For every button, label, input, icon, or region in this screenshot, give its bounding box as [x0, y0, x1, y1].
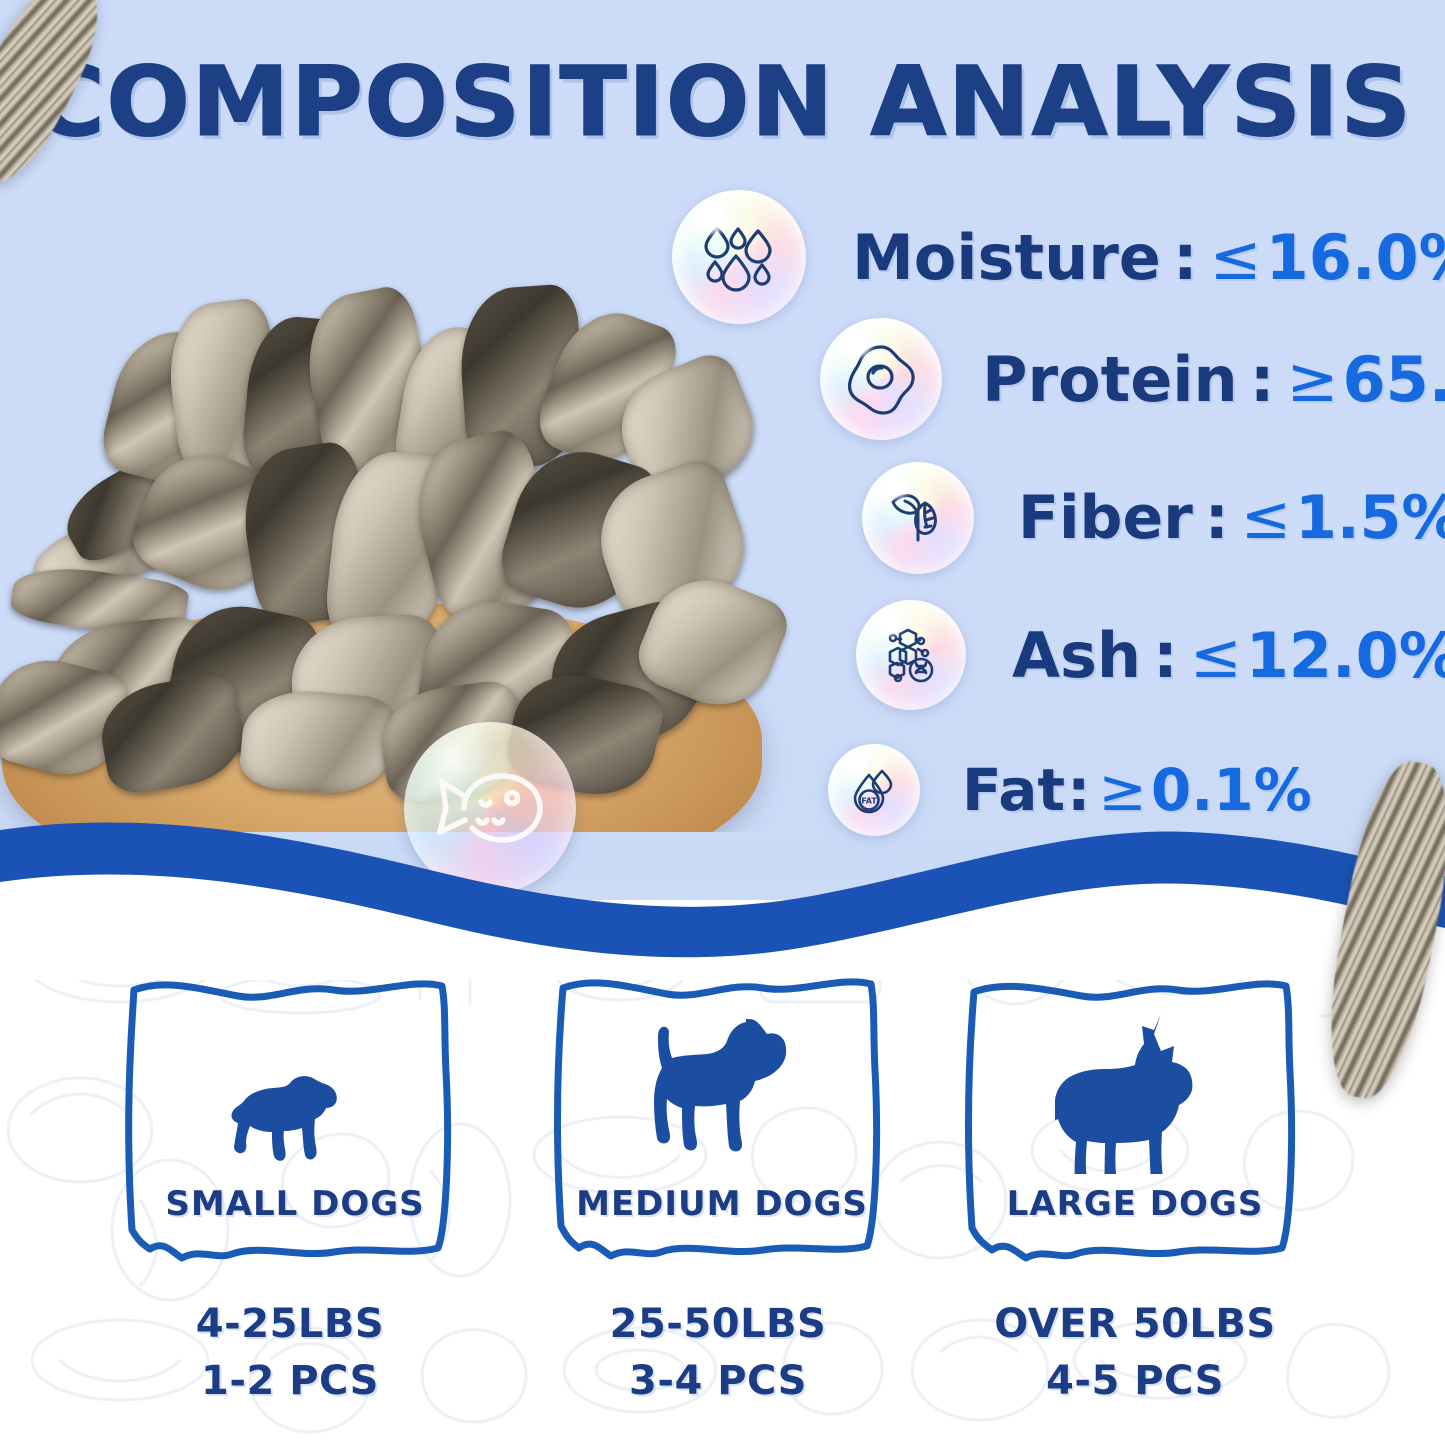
row-value: 16.0% [1266, 221, 1445, 294]
spec-weight: 4-25LBS [110, 1296, 470, 1353]
feeding-specs: 4-25LBS 1-2 PCS 25-50LBS 3-4 PCS OVER 50… [0, 1296, 1445, 1426]
spec-weight: 25-50LBS [538, 1296, 898, 1353]
leaf-icon [862, 462, 974, 574]
small-dog-icon [230, 1072, 360, 1168]
feeding-card-medium[interactable]: MEDIUM DOGS [547, 968, 897, 1268]
row-separator: : [1193, 483, 1241, 553]
row-label: Ash [1012, 619, 1141, 692]
row-separator: : [1238, 343, 1287, 416]
feeding-spec-large: OVER 50LBS 4-5 PCS [955, 1296, 1315, 1410]
row-separator: : [1141, 619, 1190, 692]
feeding-card-small[interactable]: SMALL DOGS [120, 968, 470, 1268]
large-dog-icon [1055, 1010, 1215, 1174]
card-title: LARGE DOGS [960, 1184, 1310, 1224]
row-comparator: ≤ [1190, 619, 1246, 692]
composition-analysis-poster: Moisture:≤16.0% Protein:≥65.0% [0, 0, 1445, 1445]
analysis-row-protein: Protein:≥65.0% [820, 318, 1445, 440]
spec-pieces: 4-5 PCS [955, 1353, 1315, 1410]
analysis-row-ash: Ash:≤12.0% [856, 600, 1445, 710]
row-value: 12.0% [1246, 619, 1445, 692]
feeding-guide-cards: SMALL DOGS MEDIUM DOGS LARGE DOGS [0, 968, 1445, 1268]
row-value: 65.0% [1342, 343, 1445, 416]
analysis-row-moisture: Moisture:≤16.0% [672, 190, 1445, 324]
row-label: Fiber [1018, 483, 1193, 553]
row-value: 1.5% [1295, 483, 1445, 553]
spec-pieces: 1-2 PCS [110, 1353, 470, 1410]
wave-divider [0, 790, 1445, 980]
egg-icon [820, 318, 942, 440]
page-title: COMPOSITION ANALYSIS [0, 46, 1445, 158]
row-label: Protein [982, 343, 1238, 416]
feeding-spec-small: 4-25LBS 1-2 PCS [110, 1296, 470, 1410]
row-comparator: ≥ [1287, 343, 1343, 416]
feeding-spec-medium: 25-50LBS 3-4 PCS [538, 1296, 898, 1410]
spec-weight: OVER 50LBS [955, 1296, 1315, 1353]
row-separator: : [1161, 221, 1210, 294]
spec-pieces: 3-4 PCS [538, 1353, 898, 1410]
card-title: MEDIUM DOGS [547, 1184, 897, 1224]
medium-dog-icon [646, 1016, 798, 1170]
analysis-row-fiber: Fiber:≤1.5% [862, 462, 1445, 574]
row-label: Moisture [852, 221, 1161, 294]
feeding-card-large[interactable]: LARGE DOGS [960, 968, 1310, 1268]
molecule-dna-icon [856, 600, 966, 710]
card-title: SMALL DOGS [120, 1184, 470, 1224]
row-comparator: ≤ [1210, 221, 1266, 294]
row-comparator: ≤ [1241, 483, 1295, 553]
water-drops-icon [672, 190, 806, 324]
